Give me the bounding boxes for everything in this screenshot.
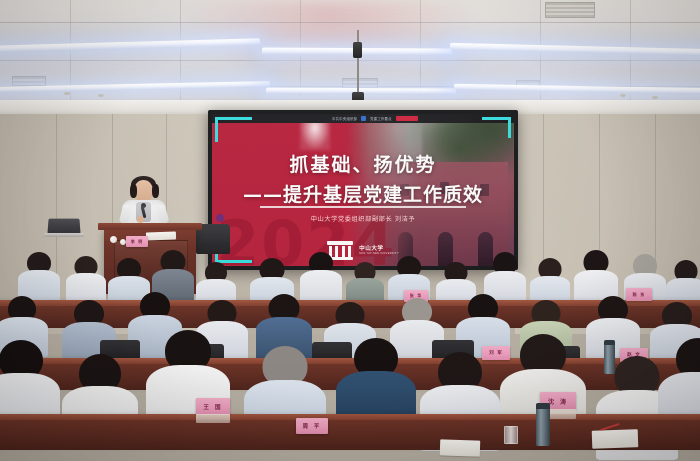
slide-dot-accent [216, 214, 224, 222]
name-card: 周 平 [296, 418, 328, 434]
smoke-detector-icon [620, 94, 626, 97]
ceiling [0, 0, 700, 108]
podium-name-card: 李 明 [126, 236, 148, 247]
ceiling-light-strip [450, 43, 700, 56]
smoke-detector-icon [652, 96, 658, 99]
projection-screen: 2024 中共中央组织部 党建工作要点 抓基础、扬优势 ——提升基层党建工作质效… [208, 110, 518, 270]
slide-underline-rule [260, 206, 466, 208]
ceiling-vent-left [12, 76, 46, 86]
audience-person [66, 256, 106, 302]
name-card: 王 国 [196, 398, 230, 415]
podium-papers [146, 231, 176, 240]
slide-surface: 2024 中共中央组织部 党建工作要点 抓基础、扬优势 ——提升基层党建工作质效… [212, 114, 514, 266]
slide-subtitle: 中山大学党委组织部副部长 刘洁予 [212, 214, 514, 223]
audience-person [18, 252, 60, 300]
audience-person [530, 258, 570, 304]
slide-bar-square-icon [361, 116, 366, 121]
slide-bar-badge [396, 116, 418, 121]
smoke-detector-icon [98, 94, 104, 97]
thermos-flask [536, 408, 550, 446]
slide-bar-right-text: 党建工作要点 [370, 116, 392, 121]
slide-corner-accent-top-left [215, 117, 252, 142]
logo-cn-name: 中山大学 [359, 246, 399, 252]
slide-top-bar: 中共中央组织部 党建工作要点 [212, 114, 514, 123]
name-card-stand [196, 414, 230, 423]
podium-cup [110, 236, 117, 243]
note-paper [592, 429, 639, 449]
note-paper [440, 439, 481, 456]
audience-person [574, 250, 618, 302]
slide-title-line2: ——提升基层党建工作质效 [212, 180, 514, 207]
lecture-hall-photo: 2024 中共中央组织部 党建工作要点 抓基础、扬优势 ——提升基层党建工作质效… [0, 0, 700, 461]
water-glass [504, 426, 518, 444]
slide-bar-left-text: 中共中央组织部 [332, 116, 357, 121]
smoke-detector-icon [64, 92, 70, 95]
slide-corner-accent-top-right [482, 117, 511, 138]
podium-laptop [47, 219, 80, 234]
ceiling-vent-rear [545, 2, 595, 18]
projector-mount-icon [353, 42, 362, 58]
slide-title-line1: 抓基础、扬优势 [212, 150, 514, 177]
